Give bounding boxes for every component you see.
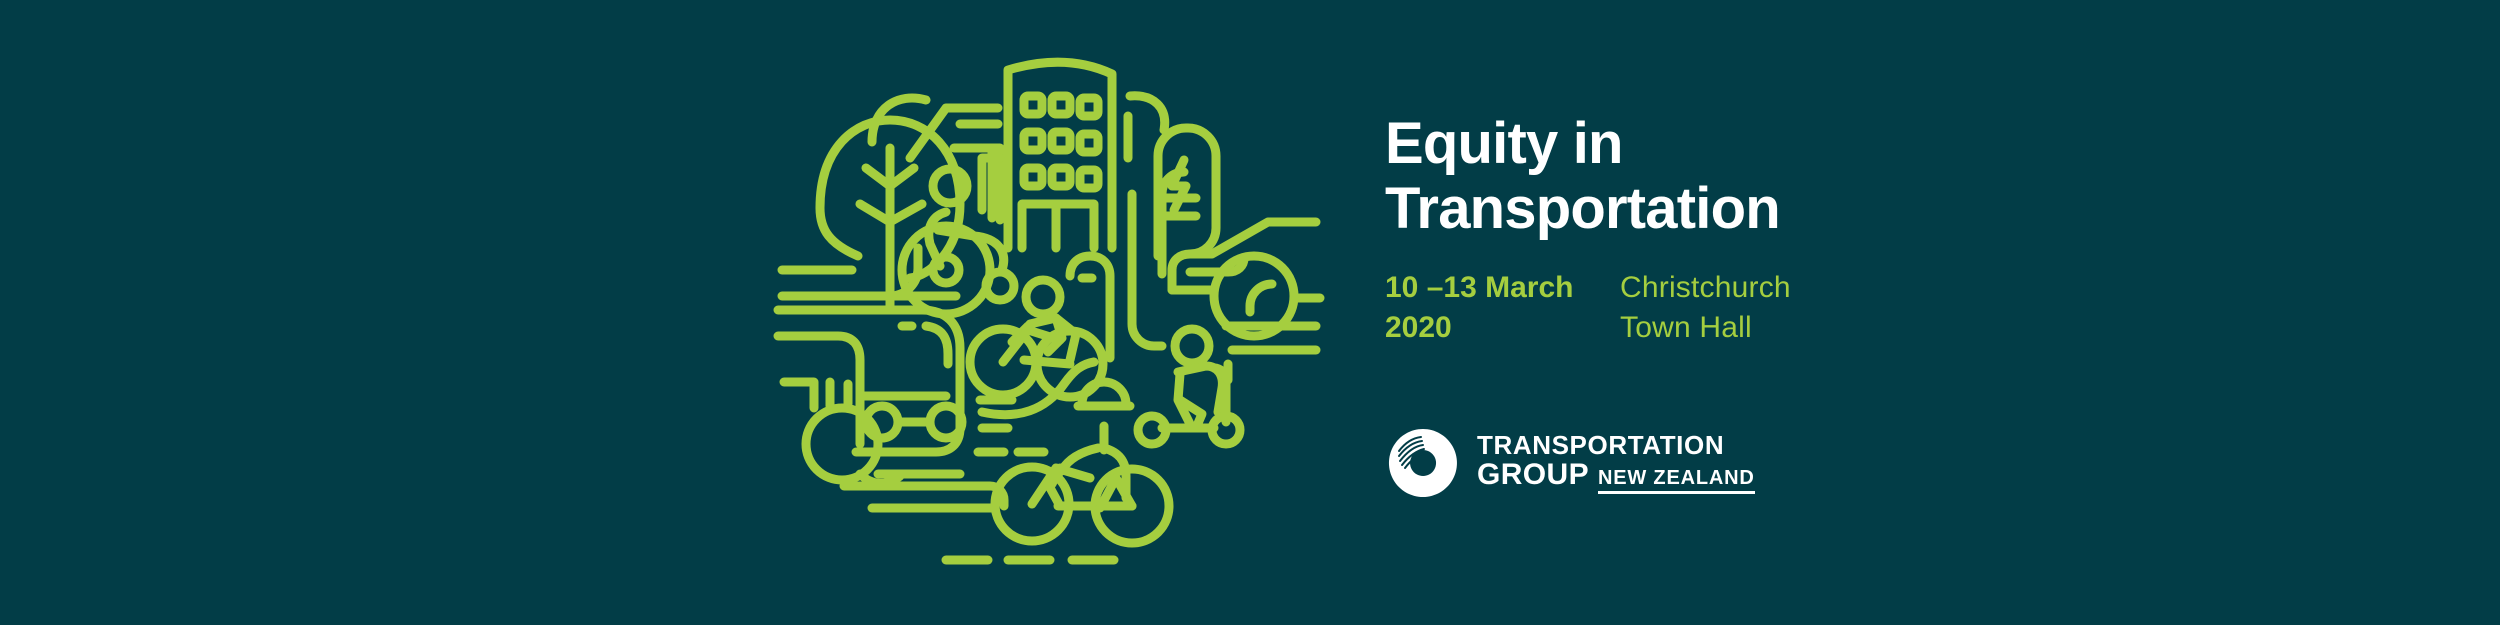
motion-line-1 [784, 382, 814, 408]
logo-word-new-zealand: NEW ZEALAND [1598, 468, 1755, 494]
road-line-1 [844, 486, 1004, 506]
conference-banner: Equity in Transportation 10 –13 March 20… [0, 0, 2500, 625]
event-venue: Christchurch Town Hall [1620, 268, 1791, 348]
logo-line-group-nz: GROUP NEW ZEALAND [1477, 459, 1755, 494]
page-title: Equity in Transportation [1385, 112, 2285, 242]
logo-line-transportation: TRANSPORTATION [1477, 432, 1755, 460]
event-details: 10 –13 March 2020 Christchurch Town Hall [1385, 268, 2285, 348]
transportation-group-nz-logo: TRANSPORTATION GROUP NEW ZEALAND [1385, 425, 1755, 501]
car-icon [1172, 222, 1320, 336]
building-icon [1008, 62, 1112, 248]
charger-cable-icon [1130, 96, 1165, 130]
koru-ring-icon [1385, 425, 1461, 501]
cargo-bike-rider-icon [995, 382, 1169, 543]
urban-mobility-circle-illustration [760, 8, 1360, 608]
event-date: 10 –13 March 2020 [1385, 268, 1620, 348]
logo-word-group: GROUP [1477, 459, 1589, 491]
banner-text-block: Equity in Transportation 10 –13 March 20… [1385, 112, 2285, 348]
bus-icon [778, 310, 962, 483]
logo-wordmark: TRANSPORTATION GROUP NEW ZEALAND [1477, 432, 1755, 495]
ev-charger-icon [1158, 128, 1216, 256]
